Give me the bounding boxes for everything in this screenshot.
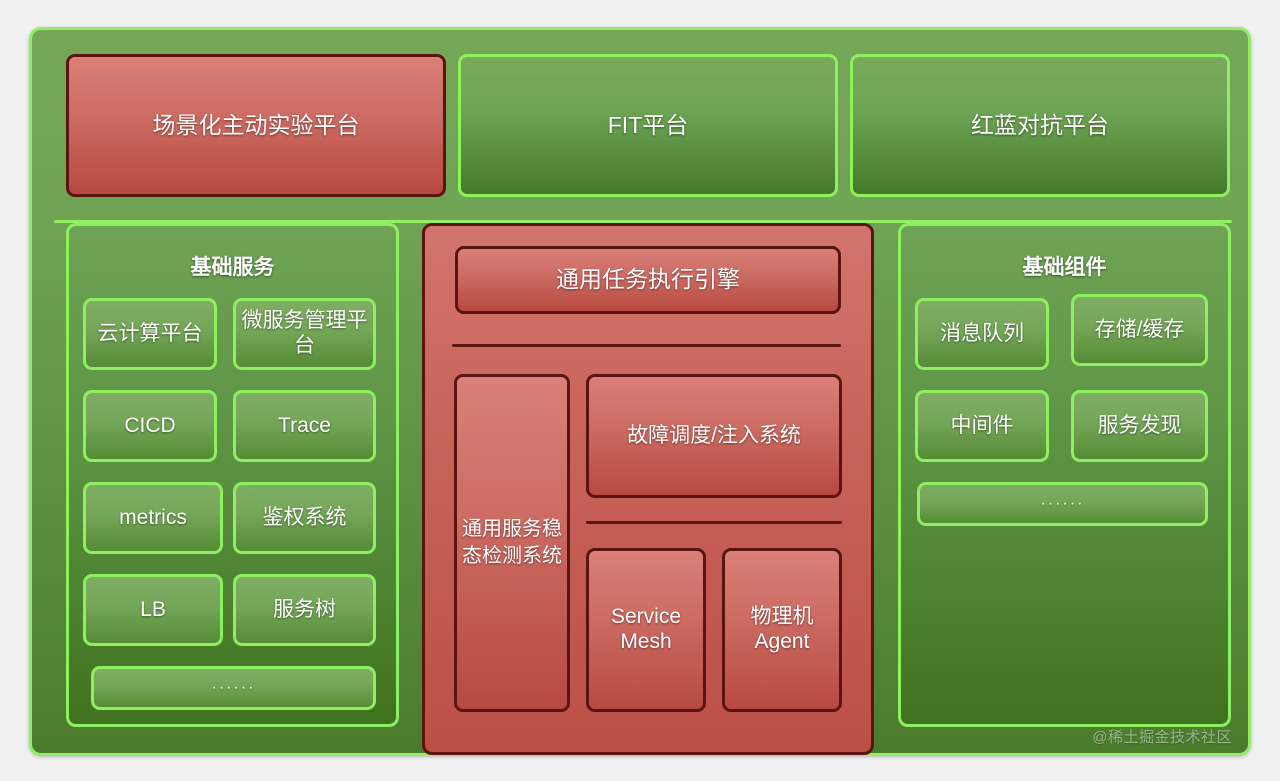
panel-basic-components: 基础组件 消息队列 存储/缓存 中间件 服务发现 ······ — [898, 223, 1231, 727]
watermark: @稀土掘金技术社区 — [1092, 726, 1232, 747]
service-service-tree[interactable]: 服务树 — [233, 574, 376, 646]
service-trace[interactable]: Trace — [233, 390, 376, 462]
top-box-fit-platform[interactable]: FIT平台 — [458, 54, 838, 197]
core-fault-injection-system[interactable]: 故障调度/注入系统 — [586, 374, 842, 498]
architecture-diagram-canvas: 场景化主动实验平台 FIT平台 红蓝对抗平台 基础服务 云计算平台 微服务管理平… — [0, 0, 1280, 781]
outer-frame: 场景化主动实验平台 FIT平台 红蓝对抗平台 基础服务 云计算平台 微服务管理平… — [29, 27, 1251, 756]
component-more[interactable]: ······ — [917, 482, 1208, 526]
service-lb[interactable]: LB — [83, 574, 223, 646]
service-more[interactable]: ······ — [91, 666, 376, 710]
panel-basic-services: 基础服务 云计算平台 微服务管理平台 CICD Trace metrics 鉴权… — [66, 223, 399, 727]
service-auth-system[interactable]: 鉴权系统 — [233, 482, 376, 554]
service-metrics[interactable]: metrics — [83, 482, 223, 554]
panel-basic-services-title: 基础服务 — [69, 251, 396, 281]
core-divider-bottom — [586, 521, 842, 524]
component-message-queue[interactable]: 消息队列 — [915, 298, 1049, 370]
component-service-discovery[interactable]: 服务发现 — [1071, 390, 1208, 462]
component-storage-cache[interactable]: 存储/缓存 — [1071, 294, 1208, 366]
component-middleware[interactable]: 中间件 — [915, 390, 1049, 462]
panel-basic-components-title: 基础组件 — [901, 251, 1228, 281]
top-box-scenario-platform[interactable]: 场景化主动实验平台 — [66, 54, 446, 197]
core-task-execution-engine[interactable]: 通用任务执行引擎 — [455, 246, 841, 314]
core-service-mesh[interactable]: Service Mesh — [586, 548, 706, 712]
service-cicd[interactable]: CICD — [83, 390, 217, 462]
top-box-red-blue-platform[interactable]: 红蓝对抗平台 — [850, 54, 1230, 197]
core-physical-machine-agent[interactable]: 物理机 Agent — [722, 548, 842, 712]
service-cloud-platform[interactable]: 云计算平台 — [83, 298, 217, 370]
core-divider-top — [452, 344, 841, 347]
core-stability-detection-system[interactable]: 通用服务稳态检测系统 — [454, 374, 570, 712]
service-microservice-mgmt-platform[interactable]: 微服务管理平台 — [233, 298, 376, 370]
panel-chaos-core: 通用任务执行引擎 通用服务稳态检测系统 故障调度/注入系统 Service Me… — [422, 223, 874, 755]
